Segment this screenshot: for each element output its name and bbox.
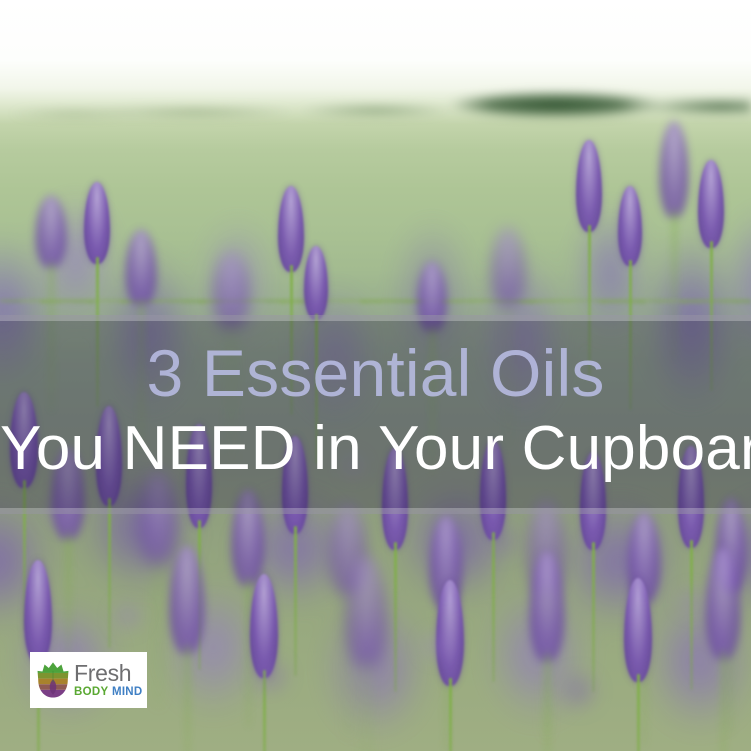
logo-wordmark-group: Fresh BODY MIND <box>74 662 143 699</box>
blog-header-graphic: 3 Essential Oils You NEED in Your Cupboa… <box>0 0 751 751</box>
logo-tagline-mind: MIND <box>112 686 143 698</box>
fresh-body-mind-lotus-mark <box>35 661 71 699</box>
band-top-edge <box>0 315 751 321</box>
logo-tagline-body: BODY <box>74 686 108 698</box>
band-bottom-edge <box>0 508 751 514</box>
brand-logo[interactable]: Fresh BODY MIND <box>30 652 147 708</box>
headline-line-1: 3 Essential Oils <box>0 340 751 406</box>
headline-line-2: You NEED in Your Cupboard <box>0 418 751 480</box>
logo-tagline: BODY MIND <box>74 687 143 699</box>
logo-wordmark-fresh: Fresh <box>74 662 143 685</box>
